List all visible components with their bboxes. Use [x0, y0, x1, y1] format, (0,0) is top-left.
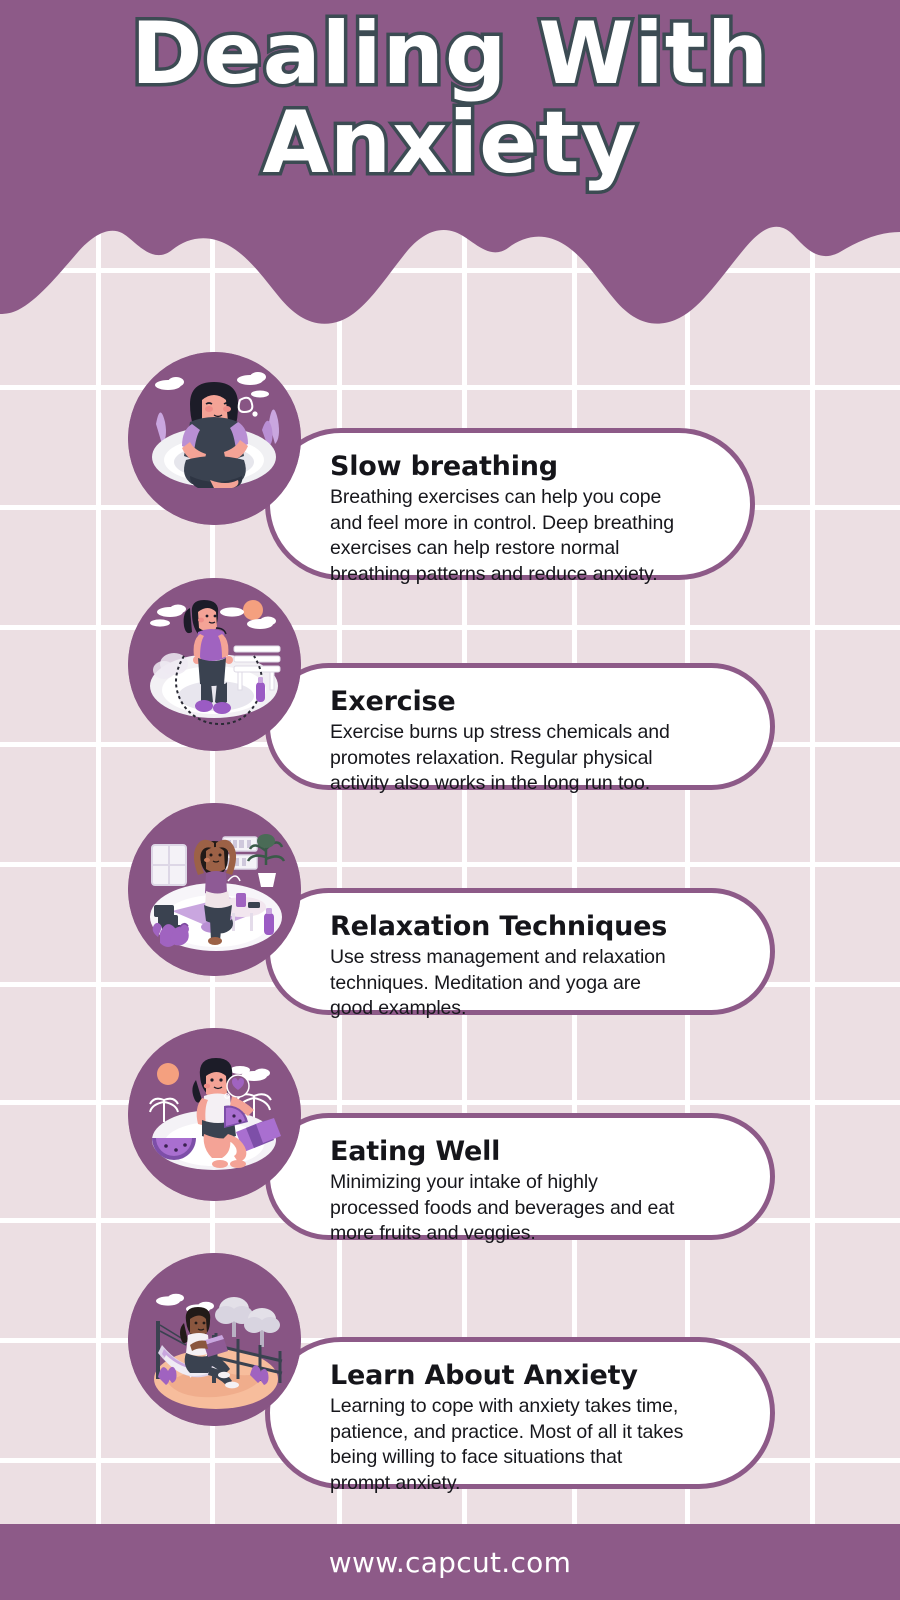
card-body: Use stress management and relaxation tec… — [330, 945, 736, 1022]
card-body: Exercise burns up stress chemicals and p… — [330, 720, 736, 797]
tip-card[interactable]: Eating Well Minimizing your intake of hi… — [265, 1113, 775, 1240]
card-title: Slow breathing — [330, 451, 716, 483]
illustration-woman-meditating-lotus-pose-on-cloud-icon — [128, 352, 301, 525]
footer-url[interactable]: www.capcut.com — [329, 1546, 571, 1579]
infographic-poster: Dealing With Anxiety — [0, 0, 900, 1600]
illustration-woman-reading-book-in-hammock-icon — [128, 1253, 301, 1426]
card-title: Exercise — [330, 686, 736, 718]
card-title: Relaxation Techniques — [330, 911, 736, 943]
card-title: Eating Well — [330, 1136, 736, 1168]
card-body: Learning to cope with anxiety takes time… — [330, 1394, 736, 1497]
tip-card[interactable]: Learn About Anxiety Learning to cope wit… — [265, 1337, 775, 1489]
card-title: Learn About Anxiety — [330, 1360, 736, 1392]
footer-bar: www.capcut.com — [0, 1524, 900, 1600]
tip-card[interactable]: Relaxation Techniques Use stress managem… — [265, 888, 775, 1015]
illustration-woman-yoga-tree-pose-at-home-icon — [128, 803, 301, 976]
illustration-woman-jumping-rope-in-park-icon — [128, 578, 301, 751]
card-body: Breathing exercises can help you cope an… — [330, 485, 716, 588]
tips-list: Slow breathing Breathing exercises can h… — [0, 0, 900, 1600]
illustration-woman-eating-watermelon-on-beach-icon — [128, 1028, 301, 1201]
tip-card[interactable]: Exercise Exercise burns up stress chemic… — [265, 663, 775, 790]
card-body: Minimizing your intake of highly process… — [330, 1170, 736, 1247]
tip-card[interactable]: Slow breathing Breathing exercises can h… — [265, 428, 755, 580]
